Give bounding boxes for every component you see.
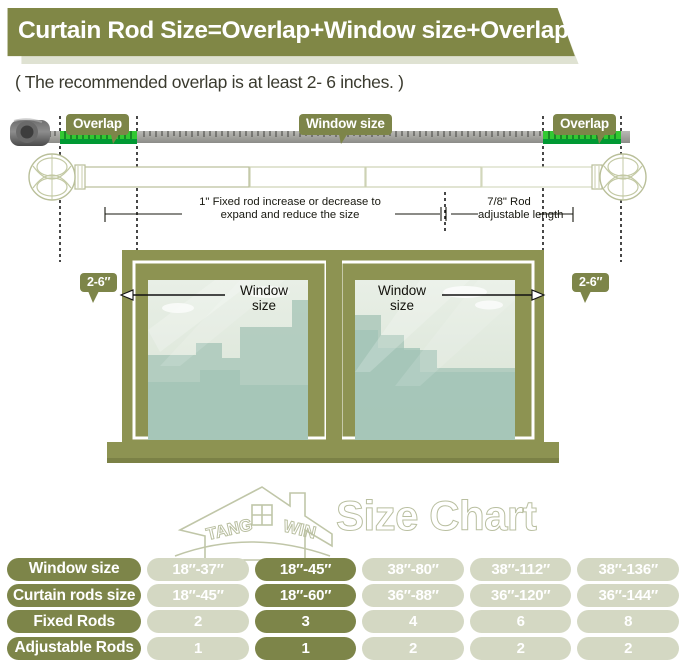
- callout-window-size: Window size: [299, 114, 392, 135]
- cell-curtain-rods-size-col2: 18″-60″: [255, 584, 357, 607]
- size-chart-title: Size Chart: [336, 492, 536, 540]
- cell-fixed-rods-col1: 2: [147, 610, 249, 633]
- window-size-left-line-1: Window: [226, 284, 302, 299]
- row-label-adjustable-rods: Adjustable Rods: [7, 637, 141, 660]
- cell-fixed-rods-col4: 6: [470, 610, 572, 633]
- cell-fixed-rods-col5: 8: [577, 610, 679, 633]
- cell-window-size-col5: 38″-136″: [577, 558, 679, 581]
- rod-fixed-line-2: expand and reduce the size: [184, 209, 396, 222]
- cell-window-size-col2: 18″-45″: [255, 558, 357, 581]
- cell-adjustable-rods-col1: 1: [147, 637, 249, 660]
- table-row: Window size 18″-37″ 18″-45″ 38″-80″ 38″-…: [0, 556, 679, 582]
- callout-overlap-left: Overlap: [66, 114, 129, 135]
- window-size-right-line-1: Window: [364, 284, 440, 299]
- cell-fixed-rods-col3: 4: [362, 610, 464, 633]
- window-size-right-line-2: size: [364, 299, 440, 314]
- callout-overlap-right: Overlap: [553, 114, 616, 135]
- rod-fixed-dimension-label: 1" Fixed rod increase or decrease to exp…: [184, 196, 396, 222]
- finial-right-icon: [600, 154, 646, 200]
- cell-curtain-rods-size-col5: 36″-144″: [577, 584, 679, 607]
- row-label-curtain-rods-size: Curtain rods size: [7, 584, 141, 607]
- badge-overlap-right: 2-6″: [572, 273, 609, 292]
- rod-adjustable-dimension-label: 7/8" Rod adjustable length: [478, 196, 540, 222]
- table-row: Curtain rods size 18″-45″ 18″-60″ 36″-88…: [0, 582, 679, 608]
- curtain-rod: [29, 154, 646, 200]
- table-row: Fixed Rods 2 3 4 6 8: [0, 609, 679, 635]
- window-size-label-left: Window size: [226, 284, 302, 314]
- row-label-fixed-rods: Fixed Rods: [7, 610, 141, 633]
- infographic-root: Curtain Rod Size=Overlap+Window size+Ove…: [0, 0, 679, 664]
- cell-curtain-rods-size-col4: 36″-120″: [470, 584, 572, 607]
- cell-window-size-col1: 18″-37″: [147, 558, 249, 581]
- cell-adjustable-rods-col3: 2: [362, 637, 464, 660]
- badge-overlap-left: 2-6″: [80, 273, 117, 292]
- window-illustration: [107, 250, 559, 463]
- cell-adjustable-rods-col5: 2: [577, 637, 679, 660]
- table-row: Adjustable Rods 1 1 2 2 2: [0, 635, 679, 661]
- cell-adjustable-rods-col4: 2: [470, 637, 572, 660]
- row-label-window-size: Window size: [7, 558, 141, 581]
- cell-curtain-rods-size-col3: 36″-88″: [362, 584, 464, 607]
- cell-window-size-col4: 38″-112″: [470, 558, 572, 581]
- cell-fixed-rods-col2: 3: [255, 610, 357, 633]
- rod-adjustable-line-2: adjustable length: [478, 209, 540, 222]
- cell-adjustable-rods-col2: 1: [255, 637, 357, 660]
- size-chart-table: Window size 18″-37″ 18″-45″ 38″-80″ 38″-…: [0, 556, 679, 662]
- rod-fixed-line-1: 1" Fixed rod increase or decrease to: [184, 196, 396, 209]
- finial-left-icon: [29, 154, 75, 200]
- window-size-left-line-2: size: [226, 299, 302, 314]
- cell-curtain-rods-size-col1: 18″-45″: [147, 584, 249, 607]
- rod-adjustable-line-1: 7/8" Rod: [478, 196, 540, 209]
- window-size-label-right: Window size: [364, 284, 440, 314]
- cell-window-size-col3: 38″-80″: [362, 558, 464, 581]
